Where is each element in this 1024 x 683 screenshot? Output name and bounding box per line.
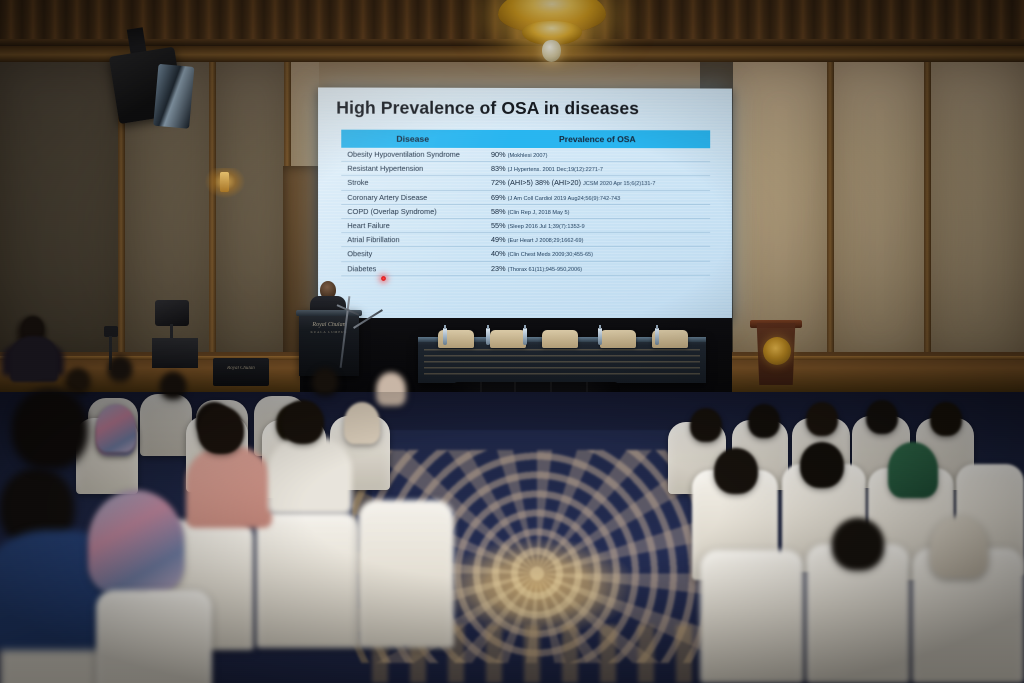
table-row: Resistant Hypertension83% (J Hypertens. …	[341, 162, 710, 176]
projection-screen: High Prevalence of OSA in diseases Disea…	[318, 87, 732, 321]
citation: (J Hypertens. 2001 Dec;19(12):2271-7	[508, 167, 603, 173]
prevalence-value: 90%	[491, 150, 506, 159]
citation: JCSM 2020 Apr 15;6(2)131-7	[583, 181, 655, 187]
citation: (Clin Rep J, 2018 May 5)	[508, 210, 570, 216]
cell-prevalence: 40% (Clin Chest Meds 2009;30;455-65)	[484, 247, 710, 261]
conference-hall-photo: High Prevalence of OSA in diseases Disea…	[0, 0, 1024, 683]
prevalence-value: 40%	[491, 249, 506, 258]
citation: (Mokhlesi 2007)	[508, 153, 548, 159]
water-bottle	[443, 328, 447, 345]
table-row: Heart Failure55% (Sleep 2016 Jul 1;39(7)…	[341, 218, 710, 232]
prevalence-value: 58%	[491, 207, 506, 216]
slide-title: High Prevalence of OSA in diseases	[336, 98, 722, 120]
panel-chair	[600, 330, 636, 348]
chandelier	[492, 0, 612, 66]
audience	[0, 360, 1024, 683]
cell-prevalence: 72% (AHI>5) 38% (AHI>20) JCSM 2020 Apr 1…	[484, 176, 710, 190]
prevalence-value: 72% (AHI>5) 38% (AHI>20)	[491, 178, 581, 187]
table-body: Obesity Hypoventilation Syndrome90% (Mok…	[341, 148, 710, 276]
water-bottle	[598, 328, 602, 345]
citation: (J Am Coll Cardiol 2019 Aug24;56(9):742-…	[508, 196, 621, 202]
water-bottle	[486, 328, 490, 345]
cell-prevalence: 49% (Eur Heart J 2008;29;1662-69)	[484, 233, 710, 247]
table-row: COPD (Overlap Syndrome)58% (Clin Rep J, …	[341, 204, 710, 218]
cell-prevalence: 83% (J Hypertens. 2001 Dec;19(12):2271-7	[484, 162, 710, 176]
laser-pointer-dot	[381, 276, 386, 281]
ceiling-speaker	[105, 20, 205, 140]
cell-disease: Stroke	[341, 176, 484, 190]
citation: (Clin Chest Meds 2009;30;455-65)	[508, 252, 593, 258]
cell-prevalence: 23% (Thorax 61(11);945-950,2006)	[484, 261, 710, 275]
cell-disease: Obesity	[341, 247, 484, 261]
water-bottle	[523, 328, 527, 345]
cell-prevalence: 55% (Sleep 2016 Jul 1;39(7):1353-9	[484, 218, 710, 232]
cell-prevalence: 90% (Mokhlesi 2007)	[484, 148, 710, 162]
cell-disease: Diabetes	[341, 261, 484, 275]
column-header-prevalence: Prevalence of OSA	[484, 130, 710, 148]
wall-sconce	[205, 168, 245, 198]
cell-prevalence: 69% (J Am Coll Cardiol 2019 Aug24;56(9):…	[484, 190, 710, 204]
prevalence-value: 23%	[491, 264, 506, 273]
table-row: Atrial Fibrillation49% (Eur Heart J 2008…	[341, 233, 710, 247]
table-row: Coronary Artery Disease69% (J Am Coll Ca…	[341, 190, 710, 204]
table-row: Diabetes23% (Thorax 61(11);945-950,2006)	[341, 261, 710, 276]
citation: (Thorax 61(11);945-950,2006)	[508, 267, 582, 273]
column-header-disease: Disease	[341, 130, 484, 148]
citation: (Sleep 2016 Jul 1;39(7):1353-9	[508, 224, 585, 230]
cell-disease: Obesity Hypoventilation Syndrome	[341, 148, 484, 162]
prevalence-value: 69%	[491, 193, 506, 202]
citation: (Eur Heart J 2008;29;1662-69)	[508, 238, 584, 244]
water-bottle	[655, 328, 659, 345]
table-row: Obesity Hypoventilation Syndrome90% (Mok…	[341, 148, 710, 162]
table-row: Obesity40% (Clin Chest Meds 2009;30;455-…	[341, 247, 710, 262]
prevalence-value: 49%	[491, 235, 506, 244]
panel-chair	[542, 330, 578, 348]
cell-prevalence: 58% (Clin Rep J, 2018 May 5)	[484, 204, 710, 218]
cell-disease: Atrial Fibrillation	[341, 233, 484, 247]
table-row: Stroke72% (AHI>5) 38% (AHI>20) JCSM 2020…	[341, 176, 710, 190]
venue-logo-text: Royal Chulan	[312, 322, 345, 328]
cell-disease: Heart Failure	[341, 218, 484, 232]
cell-disease: COPD (Overlap Syndrome)	[341, 204, 484, 218]
cell-disease: Resistant Hypertension	[341, 162, 484, 176]
prevalence-value: 55%	[491, 221, 506, 230]
cell-disease: Coronary Artery Disease	[341, 190, 484, 204]
table-header-row: Disease Prevalence of OSA	[341, 130, 710, 149]
prevalence-value: 83%	[491, 164, 506, 173]
stage-light	[155, 300, 189, 326]
panel-chair	[490, 330, 526, 348]
slide-table: Disease Prevalence of OSA Obesity Hypove…	[341, 130, 710, 276]
